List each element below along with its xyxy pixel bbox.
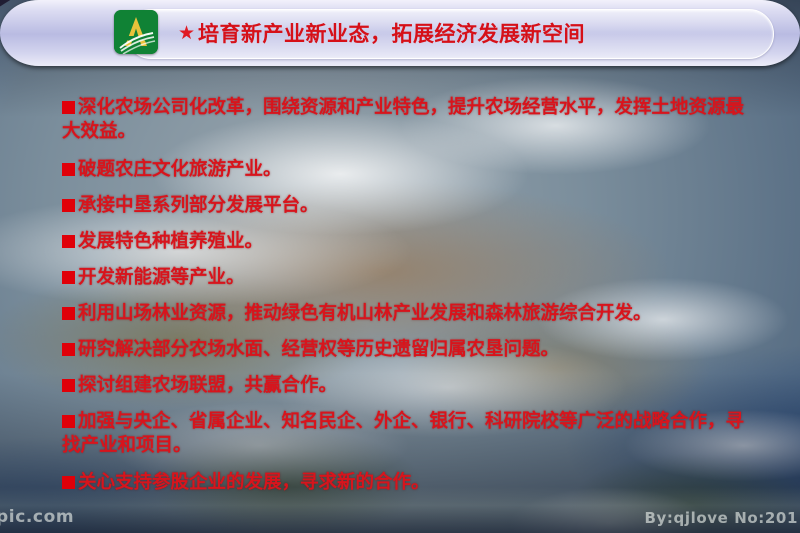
red-square-bullet-icon [62,415,75,428]
red-square-bullet-icon [62,379,75,392]
list-item-text: 利用山场林业资源，推动绿色有机山林产业发展和森林旅游综合开发。 [78,303,652,324]
list-item-text: 破题农庄文化旅游产业。 [78,159,282,180]
page-title: 培育新产业新业态，拓展经济发展新空间 [198,18,585,48]
red-square-bullet-icon [62,163,75,176]
list-item-text: 发展特色种植养殖业。 [78,231,263,252]
red-square-bullet-icon [62,101,75,114]
bullet-list: 深化农场公司化改革，围绕资源和产业特色，提升农场经营水平，发挥土地资源最大效益。… [62,96,762,507]
list-item-text: 开发新能源等产业。 [78,267,245,288]
list-item: 利用山场林业资源，推动绿色有机山林产业发展和森林旅游综合开发。 [62,302,762,326]
list-item-text: 加强与央企、省属企业、知名民企、外企、银行、科研院校等广泛的战略合作，寻找产业和… [62,411,744,456]
list-item-text: 深化农场公司化改革，围绕资源和产业特色，提升农场经营水平，发挥土地资源最大效益。 [62,97,744,142]
red-square-bullet-icon [62,235,75,248]
list-item: 开发新能源等产业。 [62,266,762,290]
list-item-text: 探讨组建农场联盟，共赢合作。 [78,375,337,396]
list-item: 深化农场公司化改革，围绕资源和产业特色，提升农场经营水平，发挥土地资源最大效益。 [62,96,762,144]
agriculture-a-logo-icon [114,10,158,54]
list-item: 发展特色种植养殖业。 [62,230,762,254]
red-star-icon: ★ [178,24,195,43]
list-item-text: 研究解决部分农场水面、经营权等历史遗留归属农垦问题。 [78,339,559,360]
list-item: 承接中垦系列部分发展平台。 [62,194,762,218]
red-square-bullet-icon [62,271,75,284]
list-item: 研究解决部分农场水面、经营权等历史遗留归属农垦问题。 [62,338,762,362]
list-item-text: 关心支持参股企业的发展，寻求新的合作。 [78,472,430,493]
list-item: 关心支持参股企业的发展，寻求新的合作。 [62,471,762,495]
banner-title-group: ★ 培育新产业新业态，拓展经济发展新空间 [178,0,585,66]
presentation-slide: ★ 培育新产业新业态，拓展经济发展新空间 深化农场公司化改革，围绕资源和产业特色… [0,0,800,533]
list-item: 探讨组建农场联盟，共赢合作。 [62,374,762,398]
red-square-bullet-icon [62,343,75,356]
red-square-bullet-icon [62,307,75,320]
list-item-text: 承接中垦系列部分发展平台。 [78,195,319,216]
list-item: 破题农庄文化旅游产业。 [62,158,762,182]
red-square-bullet-icon [62,199,75,212]
list-item: 加强与央企、省属企业、知名民企、外企、银行、科研院校等广泛的战略合作，寻找产业和… [62,410,762,458]
red-square-bullet-icon [62,476,75,489]
